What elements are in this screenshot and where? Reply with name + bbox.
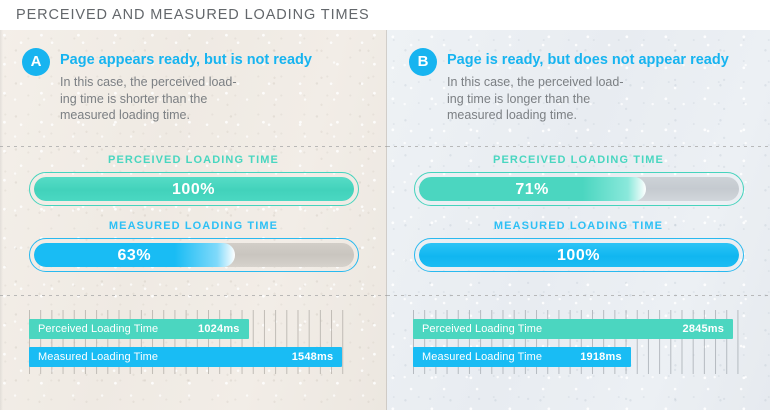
panel-a-measured-percent: 63% [34, 243, 236, 267]
panel-b-timeline-row-measured: Measured Loading Time 1918ms [413, 347, 631, 367]
panel-a-body: In this case, the perceived load- ing ti… [60, 74, 350, 124]
panel-b-heading: Page is ready, but does not appear ready [447, 52, 729, 68]
panel-a-timeline-measured-name: Measured Loading Time [38, 347, 158, 367]
panel-a-timeline-row-perceived: Perceived Loading Time 1024ms [29, 319, 249, 339]
panel-a-perceived-percent: 100% [34, 177, 354, 201]
panel-b-measured-percent: 100% [419, 243, 739, 267]
panel-b-perceived-percent: 71% [419, 177, 646, 201]
panel-a-measured-bar: 63% [29, 238, 359, 272]
panel-b-timeline-measured-value: 1918ms [580, 347, 622, 367]
panel-b-timeline-row-perceived: Perceived Loading Time 2845ms [413, 319, 733, 339]
panel-b-timeline-perceived-name: Perceived Loading Time [422, 319, 542, 339]
panel-separator [386, 30, 387, 410]
panel-a-timeline-measured-value: 1548ms [292, 347, 334, 367]
panel-b-body-line-2: ing time is longer than the [447, 91, 737, 108]
panel-b-perceived-label: PERCEIVED LOADING TIME [387, 154, 770, 166]
panel-a-divider-bottom [0, 295, 387, 296]
panel-a: A Page appears ready, but is not ready I… [0, 30, 387, 410]
panel-b-timeline: Perceived Loading Time 2845ms Measured L… [413, 310, 743, 410]
badge-b: B [409, 48, 437, 76]
panel-b-measured-bar: 100% [414, 238, 744, 272]
panel-a-heading: Page appears ready, but is not ready [60, 52, 312, 68]
panel-b-measured-label: MEASURED LOADING TIME [387, 220, 770, 232]
panel-b-body-line-1: In this case, the perceived load- [447, 74, 737, 91]
panel-a-divider-top [0, 146, 387, 147]
panel-b-perceived-bar: 71% [414, 172, 744, 206]
panel-a-progress-section: PERCEIVED LOADING TIME 100% MEASURED LOA… [0, 154, 387, 272]
badge-a: A [22, 48, 50, 76]
title-bar: PERCEIVED AND MEASURED LOADING TIMES [0, 0, 770, 30]
panel-b: B Page is ready, but does not appear rea… [387, 30, 770, 410]
panel-b-body-line-3: measured loading time. [447, 107, 737, 124]
panel-a-perceived-label: PERCEIVED LOADING TIME [0, 154, 387, 166]
panel-a-timeline-perceived-name: Perceived Loading Time [38, 319, 158, 339]
panel-b-perceived-track: 71% [419, 177, 739, 201]
panel-a-timeline-perceived-value: 1024ms [198, 319, 240, 339]
panel-a-measured-label: MEASURED LOADING TIME [0, 220, 387, 232]
panel-a-body-line-1: In this case, the perceived load- [60, 74, 350, 91]
panel-b-divider-top [387, 146, 770, 147]
panel-a-perceived-track: 100% [34, 177, 354, 201]
panel-b-timeline-measured-name: Measured Loading Time [422, 347, 542, 367]
panel-b-timeline-perceived-value: 2845ms [683, 319, 725, 339]
page-title: PERCEIVED AND MEASURED LOADING TIMES [16, 7, 370, 23]
panel-a-timeline: Perceived Loading Time 1024ms Measured L… [29, 310, 352, 410]
panel-a-timeline-row-measured: Measured Loading Time 1548ms [29, 347, 342, 367]
panel-b-divider-bottom [387, 295, 770, 296]
panel-a-body-line-3: measured loading time. [60, 107, 350, 124]
panel-a-perceived-bar: 100% [29, 172, 359, 206]
panel-a-body-line-2: ing time is shorter than the [60, 91, 350, 108]
panel-a-measured-track: 63% [34, 243, 354, 267]
panel-b-body: In this case, the perceived load- ing ti… [447, 74, 737, 124]
panel-b-progress-section: PERCEIVED LOADING TIME 71% MEASURED LOAD… [387, 154, 770, 272]
infographic-root: PERCEIVED AND MEASURED LOADING TIMES A P… [0, 0, 770, 410]
panel-b-measured-track: 100% [419, 243, 739, 267]
